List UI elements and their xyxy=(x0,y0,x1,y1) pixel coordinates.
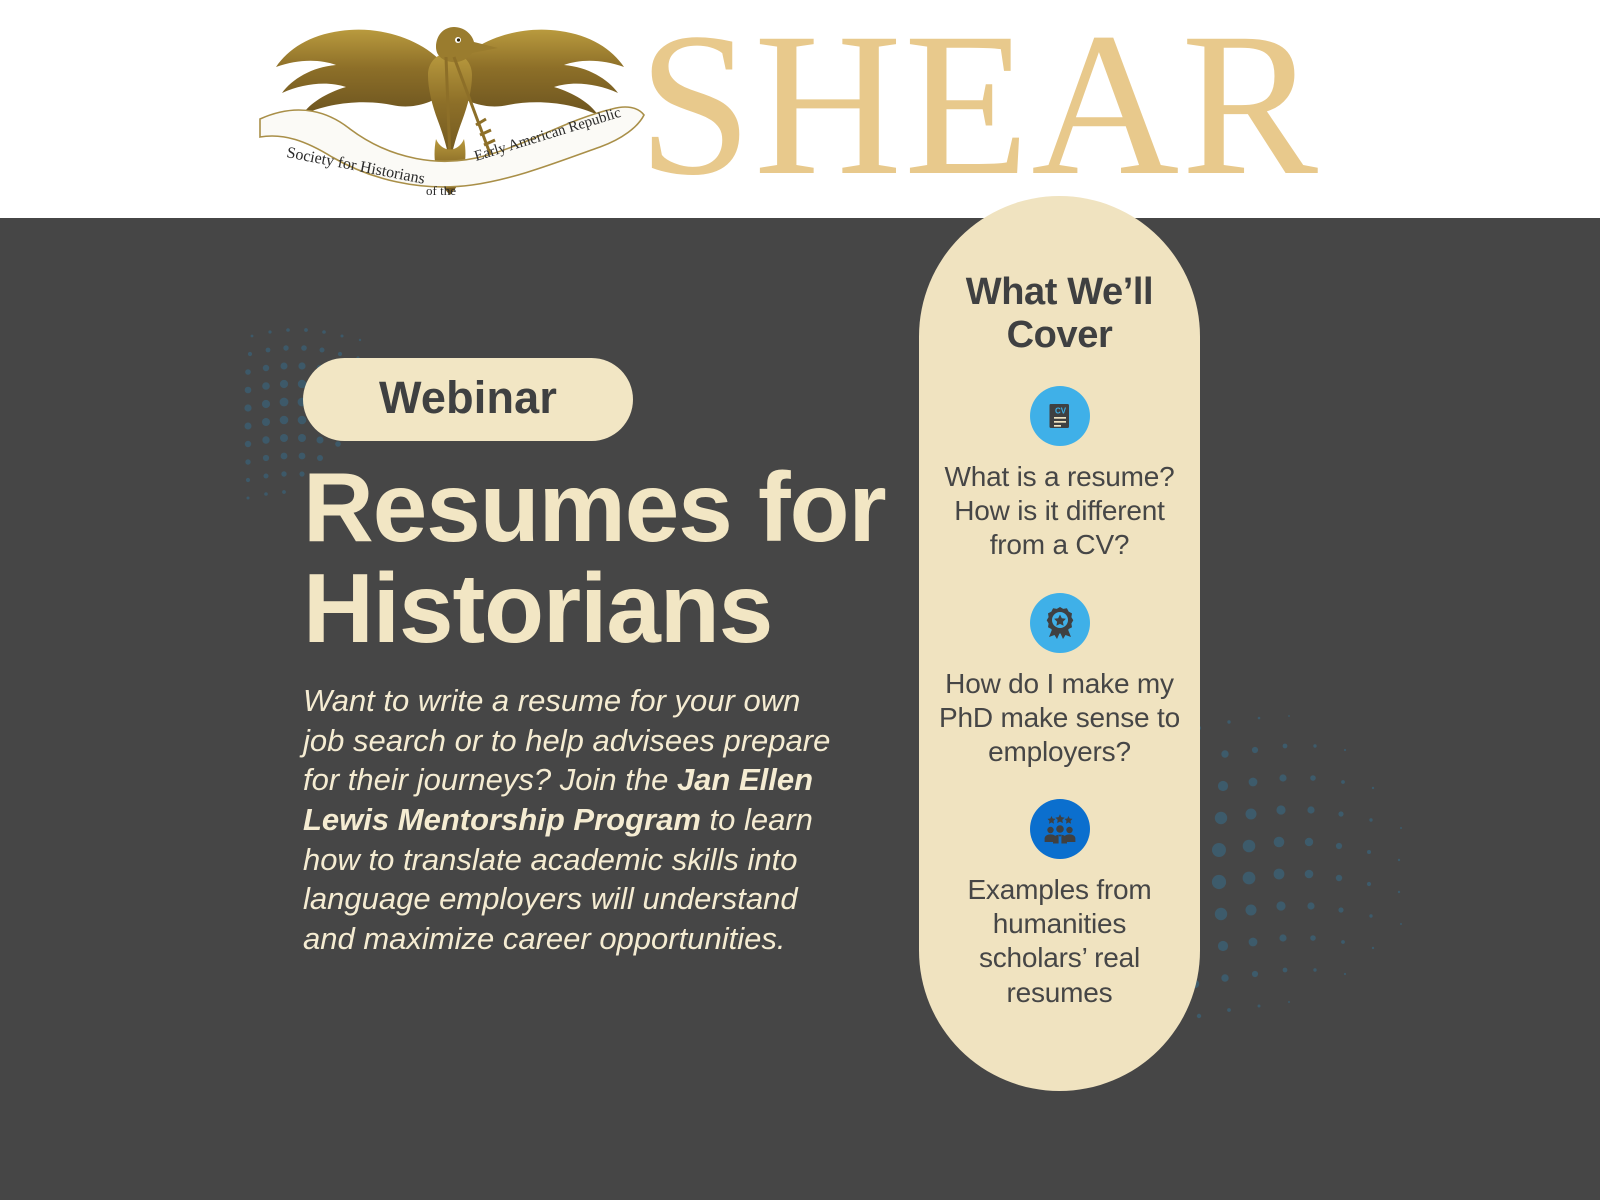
poster-body: Webinar Resumes for Historians Want to w… xyxy=(0,218,1600,1200)
cover-item-2-text: How do I make my PhD make sense to emplo… xyxy=(937,667,1182,769)
page-title: Resumes for Historians xyxy=(303,457,963,659)
hero-content: Webinar Resumes for Historians Want to w… xyxy=(303,358,963,959)
panel-title: What We’ll Cover xyxy=(937,271,1182,356)
page-title-line1: Resumes for xyxy=(303,452,886,562)
cover-item-3-text: Examples from humanities scholars’ real … xyxy=(937,873,1182,1010)
site-header: Society for Historians of the Early Amer… xyxy=(0,0,1600,218)
cover-item-1: CV What is a resume? How is it different… xyxy=(937,386,1182,562)
cover-item-3: Examples from humanities scholars’ real … xyxy=(937,799,1182,1010)
eagle-seal-icon: Society for Historians of the Early Amer… xyxy=(240,9,660,209)
cv-document-icon: CV xyxy=(1030,386,1090,446)
ribbon-text-center: of the xyxy=(426,183,456,198)
page-title-line2: Historians xyxy=(303,553,772,663)
award-ribbon-icon xyxy=(1030,593,1090,653)
shear-logo: Society for Historians of the Early Amer… xyxy=(240,9,1320,209)
shear-wordmark: SHEAR xyxy=(638,11,1320,200)
webinar-badge: Webinar xyxy=(303,358,633,441)
people-stars-icon xyxy=(1030,799,1090,859)
description-paragraph: Want to write a resume for your own job … xyxy=(303,681,833,959)
cover-item-2: How do I make my PhD make sense to emplo… xyxy=(937,593,1182,769)
svg-text:CV: CV xyxy=(1054,407,1066,416)
halftone-dots-right xyxy=(1185,688,1600,1033)
what-we-will-cover-panel: What We’ll Cover CV What is a resume? Ho… xyxy=(919,196,1200,1091)
cover-item-1-text: What is a resume? How is it different fr… xyxy=(937,460,1182,562)
